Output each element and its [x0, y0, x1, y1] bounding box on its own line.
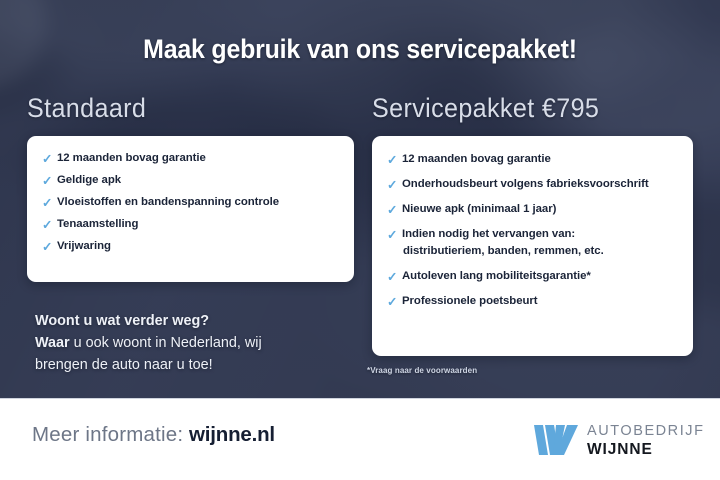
list-item: ✓ Tenaamstelling [42, 218, 354, 231]
promo-line-3: brengen de auto naar u toe! [35, 354, 355, 376]
feature-label: 12 maanden bovag garantie [402, 153, 551, 165]
company-logo[interactable]: AUTOBEDRIJF WIJNNE [534, 418, 704, 462]
feature-label: Professionele poetsbeurt [402, 295, 538, 307]
service-feature-list: ✓ 12 maanden bovag garantie ✓ Onderhouds… [372, 136, 693, 307]
feature-label: Nieuwe apk (minimaal 1 jaar) [402, 203, 556, 215]
list-item: ✓ Nieuwe apk (minimaal 1 jaar) [387, 203, 693, 216]
terms-footnote: *Vraag naar de voorwaarden [367, 366, 477, 375]
feature-label-sub: distributieriem, banden, remmen, etc. [402, 245, 604, 257]
list-item: ✓ Vloeistoffen en bandenspanning control… [42, 196, 354, 209]
promo-line-2-bold: Waar [35, 335, 70, 351]
list-item: ✓ Vrijwaring [42, 240, 354, 253]
hero-content: Maak gebruik van ons servicepakket! Stan… [0, 0, 720, 398]
logo-top-line: AUTOBEDRIJF [587, 424, 705, 439]
check-icon: ✓ [42, 153, 55, 166]
standard-column-heading: Standaard [27, 93, 146, 124]
feature-label: Geldige apk [57, 174, 121, 186]
hero-section: Maak gebruik van ons servicepakket! Stan… [0, 0, 720, 398]
feature-label: Vloeistoffen en bandenspanning controle [57, 196, 279, 208]
feature-label: Onderhoudsbeurt volgens fabrieksvoorschr… [402, 178, 649, 190]
list-item: ✓ 12 maanden bovag garantie [42, 152, 354, 165]
list-item: ✓ 12 maanden bovag garantie [387, 153, 693, 166]
feature-label: Tenaamstelling [57, 218, 138, 230]
wijnne-w-mark-icon [534, 424, 578, 456]
promo-line-1: Woont u wat verder weg? [35, 310, 355, 332]
check-icon: ✓ [42, 175, 55, 188]
check-icon: ✓ [42, 241, 55, 254]
check-icon: ✓ [387, 271, 400, 284]
page-title: Maak gebruik van ons servicepakket! [22, 34, 699, 65]
service-column-heading: Servicepakket €795 [372, 93, 599, 124]
list-item: ✓ Onderhoudsbeurt volgens fabrieksvoorsc… [387, 178, 693, 191]
website-link[interactable]: wijnne.nl [189, 423, 275, 446]
feature-label: 12 maanden bovag garantie [57, 152, 206, 164]
service-package-poster: Maak gebruik van ons servicepakket! Stan… [0, 0, 720, 480]
promo-line-2-rest: u ook woont in Nederland, wij [70, 335, 262, 351]
check-icon: ✓ [42, 219, 55, 232]
feature-label: Indien nodig het vervangen van: distribu… [402, 228, 604, 257]
check-icon: ✓ [387, 154, 400, 167]
list-item: ✓ Professionele poetsbeurt [387, 295, 693, 308]
list-item: ✓ Indien nodig het vervangen van: distri… [387, 228, 693, 257]
check-icon: ✓ [387, 204, 400, 217]
promo-line-2: Waar u ook woont in Nederland, wij [35, 332, 355, 354]
check-icon: ✓ [387, 229, 400, 242]
delivery-promo-text: Woont u wat verder weg? Waar u ook woont… [35, 310, 355, 376]
list-item: ✓ Autoleven lang mobiliteitsgarantie* [387, 270, 693, 283]
service-package-card: ✓ 12 maanden bovag garantie ✓ Onderhouds… [372, 136, 693, 356]
logo-wordmark: AUTOBEDRIJF WIJNNE [587, 423, 705, 457]
more-information-label: Meer informatie: [32, 423, 183, 446]
more-information: Meer informatie: wijnne.nl [32, 423, 275, 447]
check-icon: ✓ [387, 179, 400, 192]
logo-bottom-line: WIJNNE [587, 442, 705, 458]
standard-feature-list: ✓ 12 maanden bovag garantie ✓ Geldige ap… [27, 136, 354, 253]
check-icon: ✓ [42, 197, 55, 210]
check-icon: ✓ [387, 296, 400, 309]
feature-label: Autoleven lang mobiliteitsgarantie* [402, 270, 591, 282]
feature-label-main: Indien nodig het vervangen van: [402, 228, 575, 240]
list-item: ✓ Geldige apk [42, 174, 354, 187]
standard-package-card: ✓ 12 maanden bovag garantie ✓ Geldige ap… [27, 136, 354, 282]
feature-label: Vrijwaring [57, 240, 111, 252]
